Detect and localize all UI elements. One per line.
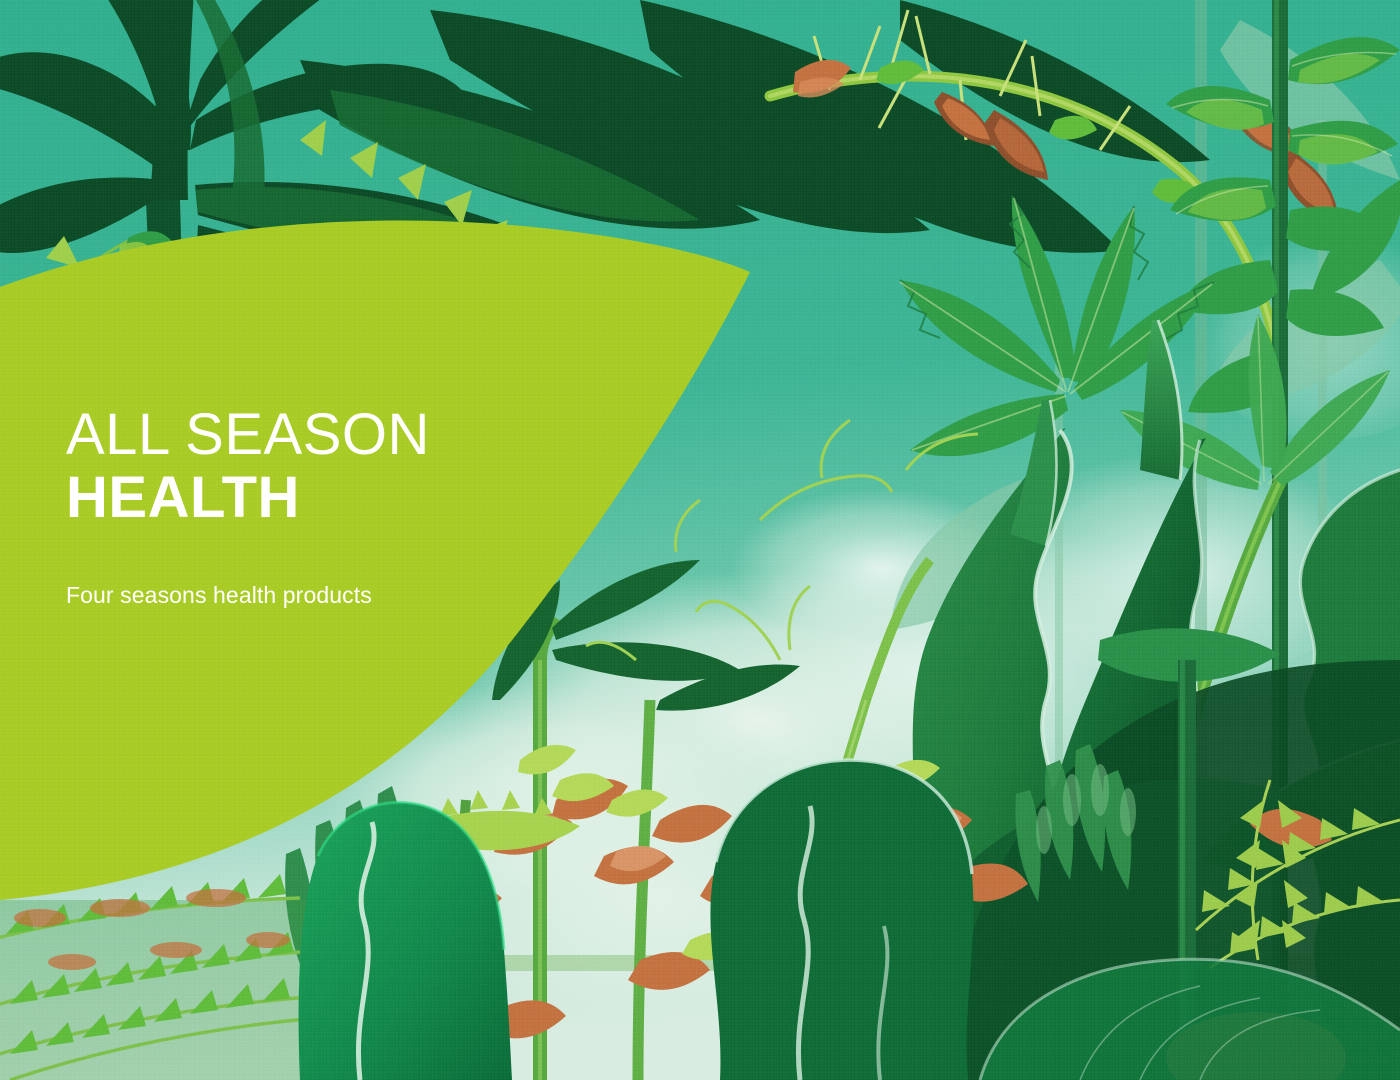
poster-canvas: ALL SEASON HEALTH Four seasons health pr… [0,0,1400,1080]
headline-line-2: HEALTH [66,466,546,530]
headline-block: ALL SEASON HEALTH Four seasons health pr… [66,404,546,609]
subtitle: Four seasons health products [66,582,546,609]
headline-line-1: ALL SEASON [66,404,546,466]
